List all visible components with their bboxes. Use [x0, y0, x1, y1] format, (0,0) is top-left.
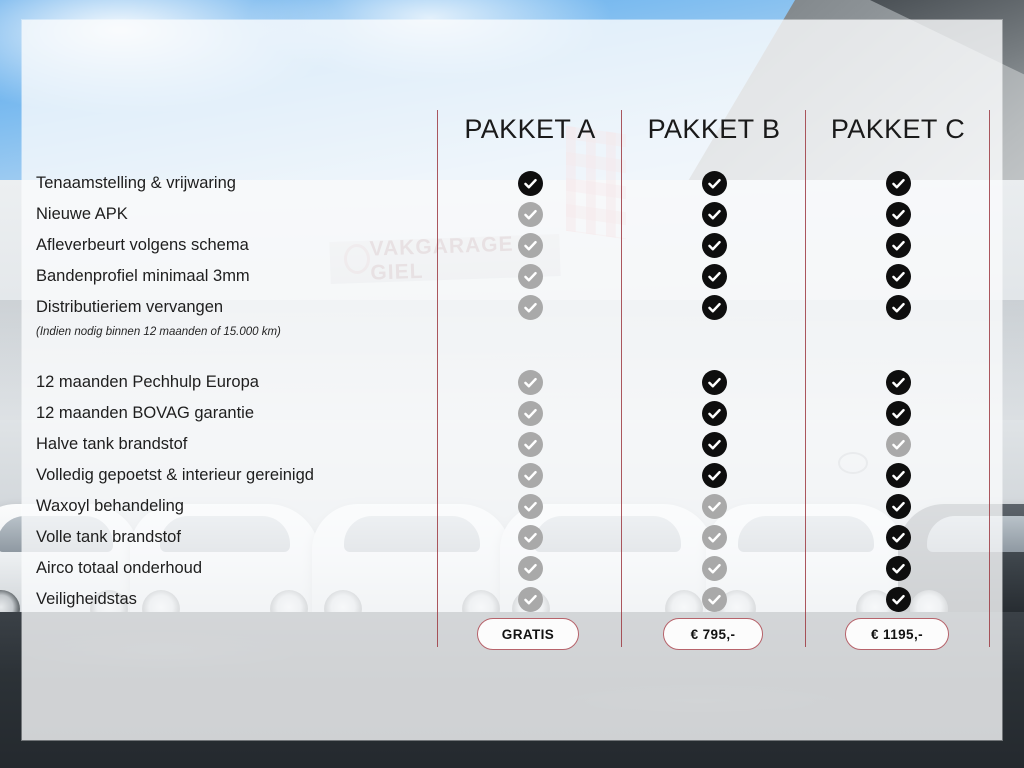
check-cell [805, 292, 991, 323]
check-cell [621, 292, 807, 323]
feature-label: 12 maanden Pechhulp Europa [36, 367, 426, 398]
check-on-icon [702, 432, 727, 457]
package-header-a: PAKKET A [437, 114, 623, 145]
check-off-icon [518, 525, 543, 550]
check-cell [805, 199, 991, 230]
check-off-icon [518, 202, 543, 227]
check-off-icon [702, 587, 727, 612]
price-badge-c[interactable]: € 1195,- [845, 618, 949, 650]
check-off-icon [702, 556, 727, 581]
note-spacer [437, 323, 623, 341]
check-on-icon [702, 295, 727, 320]
feature-label: Airco totaal onderhoud [36, 553, 426, 584]
check-cell [805, 522, 991, 553]
check-off-icon [518, 556, 543, 581]
check-off-icon [518, 494, 543, 519]
check-cell [621, 491, 807, 522]
check-cell [621, 398, 807, 429]
check-cell [621, 168, 807, 199]
feature-label-column: Tenaamstelling & vrijwaring Nieuwe APK A… [36, 168, 426, 615]
check-off-icon [518, 264, 543, 289]
feature-label: Tenaamstelling & vrijwaring [36, 168, 426, 199]
check-cell [621, 429, 807, 460]
check-cell [437, 199, 623, 230]
check-off-icon [518, 370, 543, 395]
check-off-icon [518, 401, 543, 426]
check-on-icon [886, 401, 911, 426]
check-off-icon [518, 233, 543, 258]
check-cell [805, 460, 991, 491]
check-on-icon [702, 202, 727, 227]
check-cell [805, 230, 991, 261]
check-off-icon [702, 494, 727, 519]
check-cell [437, 292, 623, 323]
check-off-icon [518, 432, 543, 457]
feature-label: Distributieriem vervangen [36, 292, 426, 323]
feature-label: Veiligheidstas [36, 584, 426, 615]
check-cell [437, 522, 623, 553]
check-cell [805, 584, 991, 615]
check-cell [621, 584, 807, 615]
check-cell [621, 261, 807, 292]
check-cell [437, 398, 623, 429]
feature-label: Halve tank brandstof [36, 429, 426, 460]
check-cell [437, 168, 623, 199]
check-on-icon [886, 463, 911, 488]
check-cell [805, 553, 991, 584]
check-cell [805, 429, 991, 460]
check-cell [805, 491, 991, 522]
check-on-icon [886, 494, 911, 519]
price-badge-a[interactable]: GRATIS [477, 618, 579, 650]
check-cell [805, 367, 991, 398]
group-separator [805, 341, 991, 367]
check-off-icon [518, 295, 543, 320]
check-cell [621, 460, 807, 491]
check-cell [437, 584, 623, 615]
check-cell [437, 367, 623, 398]
check-cell [805, 398, 991, 429]
check-on-icon [886, 295, 911, 320]
check-cell [437, 230, 623, 261]
check-cell [437, 261, 623, 292]
check-on-icon [886, 370, 911, 395]
package-header-c: PAKKET C [805, 114, 991, 145]
check-cell [621, 553, 807, 584]
group-separator [36, 341, 426, 367]
check-off-icon [518, 463, 543, 488]
check-on-icon [886, 587, 911, 612]
check-cell [437, 460, 623, 491]
feature-note: (Indien nodig binnen 12 maanden of 15.00… [36, 323, 426, 341]
check-on-icon [886, 202, 911, 227]
feature-label: Waxoyl behandeling [36, 491, 426, 522]
check-on-icon [702, 463, 727, 488]
check-on-icon [518, 171, 543, 196]
check-cell [621, 230, 807, 261]
check-cell [805, 168, 991, 199]
note-spacer [621, 323, 807, 341]
check-on-icon [886, 525, 911, 550]
check-off-icon [702, 525, 727, 550]
check-cell [621, 367, 807, 398]
check-on-icon [702, 171, 727, 196]
check-cell [437, 553, 623, 584]
check-on-icon [886, 171, 911, 196]
check-on-icon [886, 556, 911, 581]
check-column-a [437, 168, 623, 615]
package-header-b: PAKKET B [621, 114, 807, 145]
check-cell [805, 261, 991, 292]
note-spacer [805, 323, 991, 341]
check-on-icon [702, 264, 727, 289]
feature-label: Nieuwe APK [36, 199, 426, 230]
check-on-icon [702, 401, 727, 426]
check-on-icon [886, 233, 911, 258]
check-column-b [621, 168, 807, 615]
check-on-icon [702, 233, 727, 258]
check-off-icon [518, 587, 543, 612]
feature-label: Afleverbeurt volgens schema [36, 230, 426, 261]
check-column-c [805, 168, 991, 615]
feature-label: Volle tank brandstof [36, 522, 426, 553]
feature-label: Volledig gepoetst & interieur gereinigd [36, 460, 426, 491]
group-separator [621, 341, 807, 367]
check-cell [621, 522, 807, 553]
check-cell [437, 491, 623, 522]
price-badge-b[interactable]: € 795,- [663, 618, 763, 650]
check-off-icon [886, 432, 911, 457]
check-on-icon [886, 264, 911, 289]
feature-label: 12 maanden BOVAG garantie [36, 398, 426, 429]
group-separator [437, 341, 623, 367]
feature-label: Bandenprofiel minimaal 3mm [36, 261, 426, 292]
check-cell [437, 429, 623, 460]
check-on-icon [702, 370, 727, 395]
check-cell [621, 199, 807, 230]
package-comparison-table: PAKKET A PAKKET B PAKKET C Tenaamstellin… [0, 0, 1024, 768]
